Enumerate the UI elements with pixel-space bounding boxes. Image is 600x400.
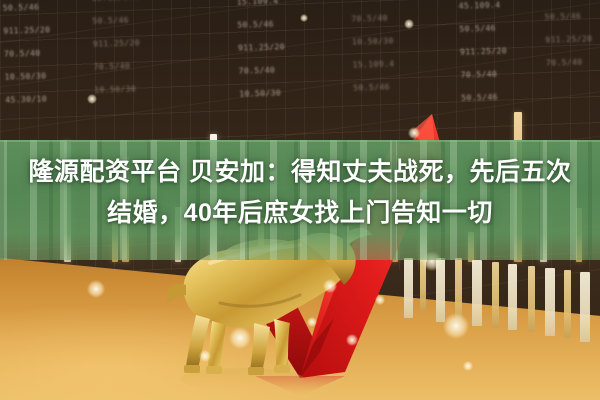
light-particle	[307, 317, 317, 327]
light-particle	[443, 313, 469, 339]
light-particle	[323, 279, 337, 293]
light-particle	[87, 280, 105, 298]
headline-line-2: 结婚，40年后庶女找上门告知一切	[0, 193, 600, 234]
light-particle	[346, 334, 358, 346]
light-particle	[229, 327, 251, 349]
light-particle	[463, 361, 473, 371]
headline: 隆源配资平台 贝安加：得知丈夫战死，先后五次 结婚，40年后庶女找上门告知一切	[0, 152, 600, 234]
headline-line-1: 隆源配资平台 贝安加：得知丈夫战死，先后五次	[0, 152, 600, 193]
light-particle	[199, 350, 211, 362]
band-top-edge	[0, 140, 600, 142]
light-particle	[375, 295, 385, 305]
light-particle	[404, 19, 414, 29]
light-particle	[408, 127, 420, 139]
light-particle	[300, 14, 308, 22]
news-banner-image: 50.5/46 911.25/20 70.5/40 10.50/30 45.30…	[0, 0, 600, 400]
light-particle	[87, 94, 97, 104]
